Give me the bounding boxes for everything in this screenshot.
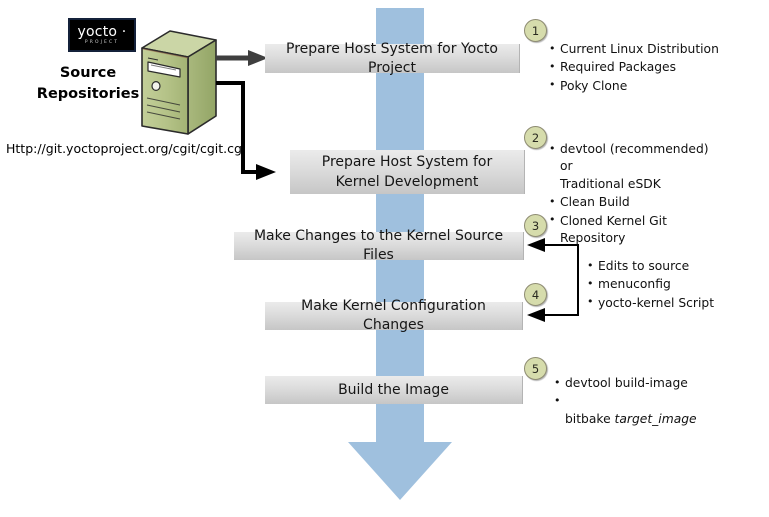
step-box-5[interactable]: Build the Image [265, 376, 523, 404]
step-badge-4-number: 4 [532, 288, 539, 302]
step-badge-2: 2 [524, 126, 547, 149]
step-box-3-label: Make Changes to the Kernel Source Files [242, 227, 515, 265]
step-1-note-item: Current Linux Distribution [548, 41, 763, 58]
step-box-3[interactable]: Make Changes to the Kernel Source Files [234, 232, 524, 260]
step-1-notes: Current Linux Distribution Required Pack… [548, 41, 763, 96]
step-badge-1-number: 1 [532, 24, 539, 38]
connector-shared-notes-bracket [527, 238, 578, 322]
step-badge-4: 4 [524, 283, 547, 306]
step-box-4[interactable]: Make Kernel Configuration Changes [265, 302, 523, 330]
logo-subtext: PROJECT [85, 41, 119, 46]
source-label-line2: Repositories [28, 84, 148, 105]
source-repositories-label: Source Repositories [28, 63, 148, 105]
steps-3-4-shared-notes: Edits to source menuconfig yocto-kernel … [586, 258, 766, 313]
step-badge-5-number: 5 [532, 362, 539, 376]
step-5-note-item: bitbake target_image [553, 393, 753, 428]
step-badge-1: 1 [524, 19, 547, 42]
step-badge-5: 5 [524, 357, 547, 380]
step-2-notes: devtool (recommended) or Traditional eSD… [548, 141, 720, 249]
step-box-5-label: Build the Image [338, 381, 449, 400]
step-5-note-item-text: bitbake target_image [565, 412, 697, 426]
step-badge-2-number: 2 [532, 131, 539, 145]
step-box-2[interactable]: Prepare Host System for Kernel Developme… [290, 150, 525, 194]
step-2-note-item: Clean Build [548, 194, 720, 211]
source-label-line1: Source [28, 63, 148, 84]
step-box-1-label: Prepare Host System for Yocto Project [273, 40, 511, 78]
step-5-notes: devtool build-image bitbake target_image [553, 375, 753, 429]
step-5-note-item: devtool build-image [553, 375, 753, 392]
step-2-note-item: Cloned Kernel Git Repository [548, 213, 720, 248]
step-1-note-item: Poky Clone [548, 78, 763, 95]
shared-note-item: menuconfig [586, 276, 766, 293]
step-box-1[interactable]: Prepare Host System for Yocto Project [265, 44, 520, 73]
connector-server-to-step2 [216, 83, 276, 180]
shared-note-item: yocto-kernel Script [586, 295, 766, 312]
shared-note-item: Edits to source [586, 258, 766, 275]
server-tower-icon [136, 28, 222, 138]
repository-url-text: Http://git.yoctoproject.org/cgit/cgit.cg… [6, 141, 245, 156]
step-box-4-label: Make Kernel Configuration Changes [273, 297, 514, 335]
connector-server-to-step1 [216, 50, 268, 66]
kernel-development-workflow-diagram: yocto · PROJECT Source Repositories Http… [0, 0, 769, 517]
step-badge-3: 3 [524, 214, 547, 237]
step-1-note-item: Required Packages [548, 59, 763, 76]
step-box-2-label: Prepare Host System for Kernel Developme… [298, 152, 516, 193]
step-2-note-item: devtool (recommended) or Traditional eSD… [548, 141, 720, 193]
yocto-project-logo: yocto · PROJECT [68, 18, 136, 52]
logo-wordmark: yocto · [78, 25, 127, 39]
step-badge-3-number: 3 [532, 219, 539, 233]
